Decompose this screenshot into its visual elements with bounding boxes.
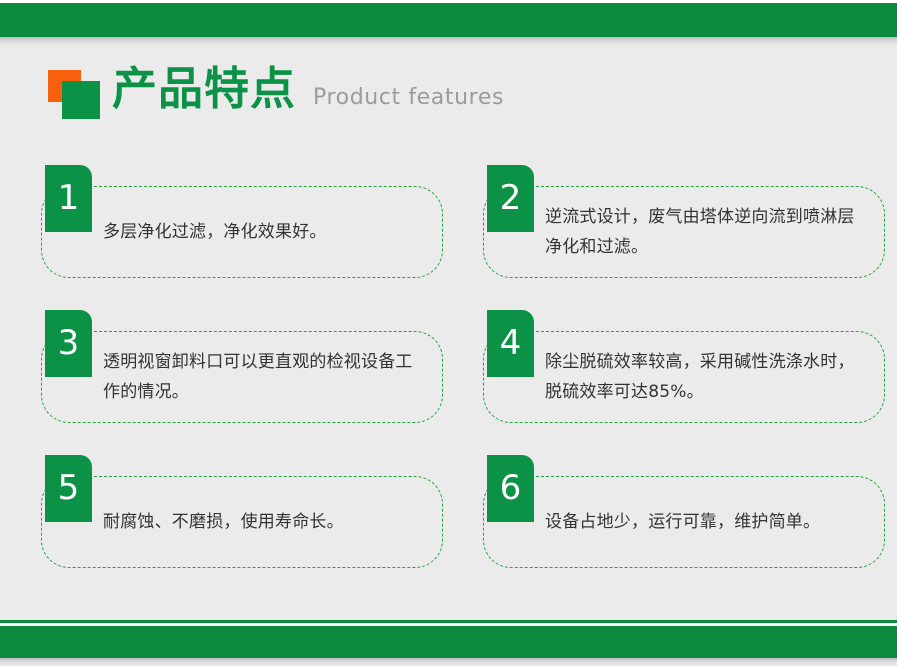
feature-text-content-6: 设备占地少，运行可靠，维护简单。 [545, 507, 820, 537]
product-features-page: 产品特点 Product features 1 多层净化过滤，净化效果好。 2 … [0, 0, 897, 666]
feature-item-4: 4 除尘脱硫效率较高，采用碱性洗涤水时，脱硫效率可达85%。 [483, 331, 885, 423]
feature-number-badge-4: 4 [487, 310, 534, 377]
feature-text-5: 耐腐蚀、不磨损，使用寿命长。 [103, 476, 428, 568]
feature-text-2: 逆流式设计，废气由塔体逆向流到喷淋层净化和过滤。 [545, 186, 870, 278]
feature-number-badge-5: 5 [45, 455, 92, 522]
feature-item-6: 6 设备占地少，运行可靠，维护简单。 [483, 476, 885, 568]
feature-text-content-4: 除尘脱硫效率较高，采用碱性洗涤水时，脱硫效率可达85%。 [545, 347, 870, 407]
feature-item-2: 2 逆流式设计，废气由塔体逆向流到喷淋层净化和过滤。 [483, 186, 885, 278]
feature-number-badge-2: 2 [487, 165, 534, 232]
feature-text-4: 除尘脱硫效率较高，采用碱性洗涤水时，脱硫效率可达85%。 [545, 331, 870, 423]
feature-item-1: 1 多层净化过滤，净化效果好。 [41, 186, 443, 278]
feature-text-3: 透明视窗卸料口可以更直观的检视设备工作的情况。 [103, 331, 428, 423]
feature-text-6: 设备占地少，运行可靠，维护简单。 [545, 476, 870, 568]
bottom-bar-shadow [0, 658, 897, 666]
feature-text-content-2: 逆流式设计，废气由塔体逆向流到喷淋层净化和过滤。 [545, 202, 870, 262]
feature-text-content-3: 透明视窗卸料口可以更直观的检视设备工作的情况。 [103, 347, 428, 407]
feature-grid: 1 多层净化过滤，净化效果好。 2 逆流式设计，废气由塔体逆向流到喷淋层净化和过… [0, 0, 897, 666]
feature-text-1: 多层净化过滤，净化效果好。 [103, 186, 428, 278]
feature-item-5: 5 耐腐蚀、不磨损，使用寿命长。 [41, 476, 443, 568]
bottom-green-bar [0, 626, 897, 658]
feature-number-badge-6: 6 [487, 455, 534, 522]
feature-number-badge-1: 1 [45, 165, 92, 232]
feature-text-content-1: 多层净化过滤，净化效果好。 [103, 217, 327, 247]
feature-text-content-5: 耐腐蚀、不磨损，使用寿命长。 [103, 507, 344, 537]
feature-number-badge-3: 3 [45, 310, 92, 377]
feature-item-3: 3 透明视窗卸料口可以更直观的检视设备工作的情况。 [41, 331, 443, 423]
